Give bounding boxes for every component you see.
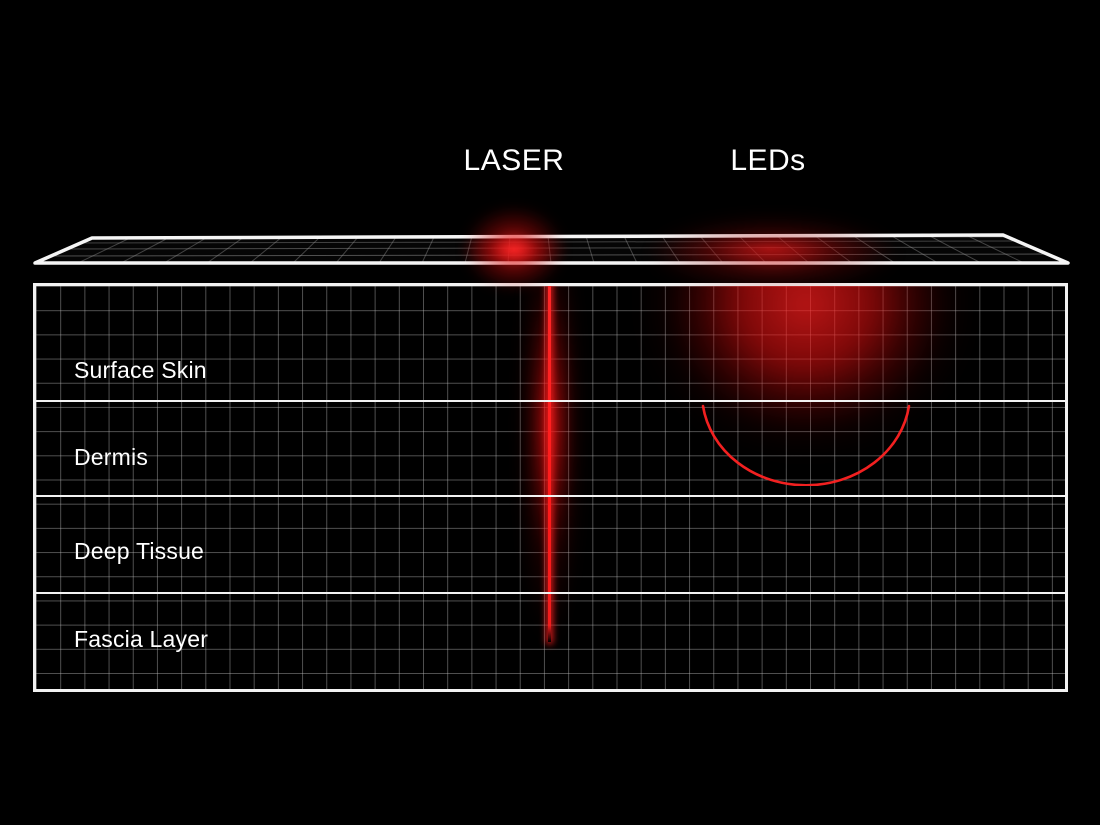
layer-divider-surface-dermis [36,400,1065,402]
surface-plane-grid [35,223,1068,276]
layer-label-surface-skin: Surface Skin [74,357,207,384]
layer-label-dermis: Dermis [74,444,148,471]
led-entry-glow [648,210,898,290]
laser-beam-core [548,283,551,642]
tissue-cross-section: Surface Skin Dermis Deep Tissue Fascia L… [33,283,1068,692]
surface-plane-outline [35,235,1068,263]
layer-label-deep-tissue: Deep Tissue [74,538,204,565]
layer-divider-deep-fascia [36,592,1065,594]
laser-entry-glow [454,206,574,292]
leds-source-label: LEDs [730,144,805,178]
diagram-canvas: LASER LEDs [0,0,1100,825]
layer-divider-dermis-deep [36,495,1065,497]
layer-label-fascia-layer: Fascia Layer [74,626,208,653]
laser-source-label: LASER [464,144,565,178]
